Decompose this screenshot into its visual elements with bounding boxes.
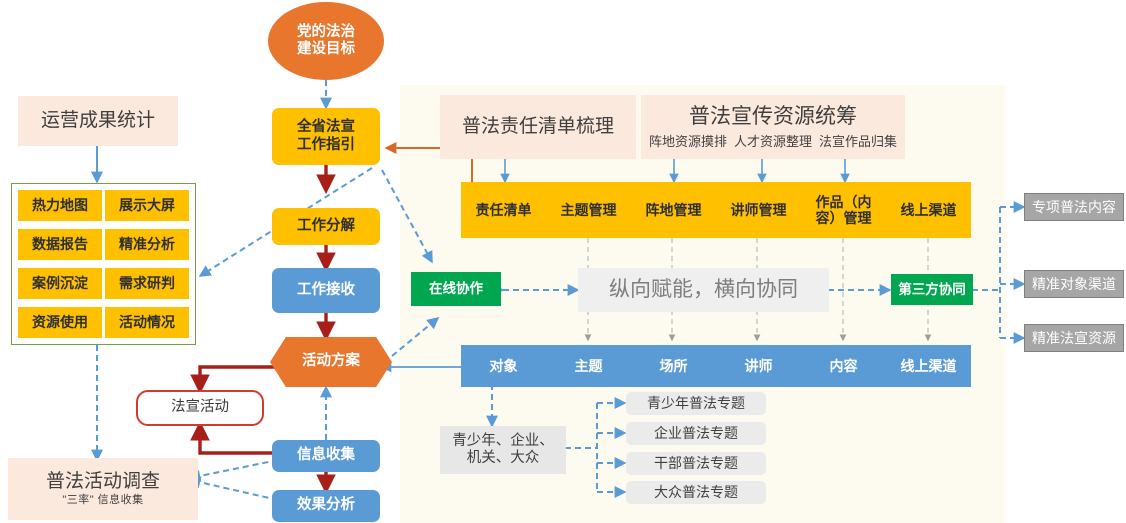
resources-item: 法宣作品归集	[819, 134, 897, 149]
stats-tile[interactable]: 需求研判	[105, 268, 189, 299]
stats-tile[interactable]: 活动情况	[105, 307, 189, 338]
precision-bar-cell-lecturer[interactable]: 讲师	[716, 345, 801, 387]
audience-topic-cadre[interactable]: 干部普法专题	[626, 452, 766, 475]
precision-bar-cell-online[interactable]: 线上渠道	[886, 345, 971, 387]
audience-topic-youth[interactable]: 青少年普法专题	[626, 392, 766, 415]
audience-topic-enterprise[interactable]: 企业普法专题	[626, 422, 766, 445]
audience-group-box: 青少年、企业、 机关、大众	[440, 426, 566, 474]
flow-node-activity[interactable]: 法宣活动	[136, 390, 264, 426]
survey-title: 普法活动调查	[46, 471, 160, 493]
stats-tile[interactable]: 展示大屏	[105, 190, 189, 221]
operations-stats-panel: 运营成果统计	[18, 96, 178, 146]
center-slogan: 纵向赋能，横向协同	[578, 268, 829, 312]
stats-tile[interactable]: 精准分析	[105, 229, 189, 260]
management-bar-cell-lecturer[interactable]: 讲师管理	[716, 182, 801, 238]
precision-bar-cell-place[interactable]: 场所	[631, 345, 716, 387]
flow-node-receive[interactable]: 工作接收	[272, 268, 380, 313]
third-party-collaboration-node[interactable]: 第三方协同	[891, 274, 973, 305]
output-special-content[interactable]: 专项普法内容	[1024, 193, 1124, 221]
survey-subtitle: "三率" 信息收集	[62, 494, 143, 507]
audience-topic-public[interactable]: 大众普法专题	[626, 481, 766, 504]
stats-tile[interactable]: 案例沉淀	[18, 268, 102, 299]
precision-bar-cell-content[interactable]: 内容	[801, 345, 886, 387]
survey-panel: 普法活动调查 "三率" 信息收集	[8, 458, 198, 520]
flow-node-analysis[interactable]: 效果分析	[272, 490, 380, 522]
precision-bar-cell-object[interactable]: 对象	[461, 345, 546, 387]
output-precision-resources[interactable]: 精准法宣资源	[1024, 324, 1124, 352]
flow-node-guide[interactable]: 全省法宣 工作指引	[272, 108, 380, 165]
flow-node-collect[interactable]: 信息收集	[272, 440, 380, 472]
goal-node: 党的法治 建设目标	[268, 2, 384, 80]
resources-item: 阵地资源摸排	[649, 134, 727, 149]
header-resources-title: 普法宣传资源统筹	[689, 105, 857, 130]
management-bar-cell-venue[interactable]: 阵地管理	[631, 182, 716, 238]
management-bar-cell-topic[interactable]: 主题管理	[546, 182, 631, 238]
stats-tile[interactable]: 资源使用	[18, 307, 102, 338]
management-bar-cell-responsibility[interactable]: 责任清单	[461, 182, 546, 238]
header-responsibility: 普法责任清单梳理	[440, 95, 636, 159]
stats-tile[interactable]: 数据报告	[18, 229, 102, 260]
diagram-canvas: 运营成果统计 热力地图 展示大屏 数据报告 精准分析 案例沉淀 需求研判 资源使…	[0, 0, 1126, 523]
management-bar-cell-online[interactable]: 线上渠道	[886, 182, 971, 238]
management-bar-cell-content[interactable]: 作品（内 容）管理	[801, 182, 886, 238]
flow-node-plan[interactable]: 活动方案	[270, 337, 392, 387]
output-precision-channel[interactable]: 精准对象渠道	[1024, 270, 1124, 298]
resources-item: 人才资源整理	[734, 134, 812, 149]
flow-node-decompose[interactable]: 工作分解	[272, 208, 380, 245]
header-resources: 普法宣传资源统筹 阵地资源摸排 人才资源整理 法宣作品归集	[641, 95, 905, 159]
online-collaboration-node[interactable]: 在线协作	[411, 272, 501, 306]
stats-tile[interactable]: 热力地图	[18, 190, 102, 221]
precision-bar-cell-topic[interactable]: 主题	[546, 345, 631, 387]
